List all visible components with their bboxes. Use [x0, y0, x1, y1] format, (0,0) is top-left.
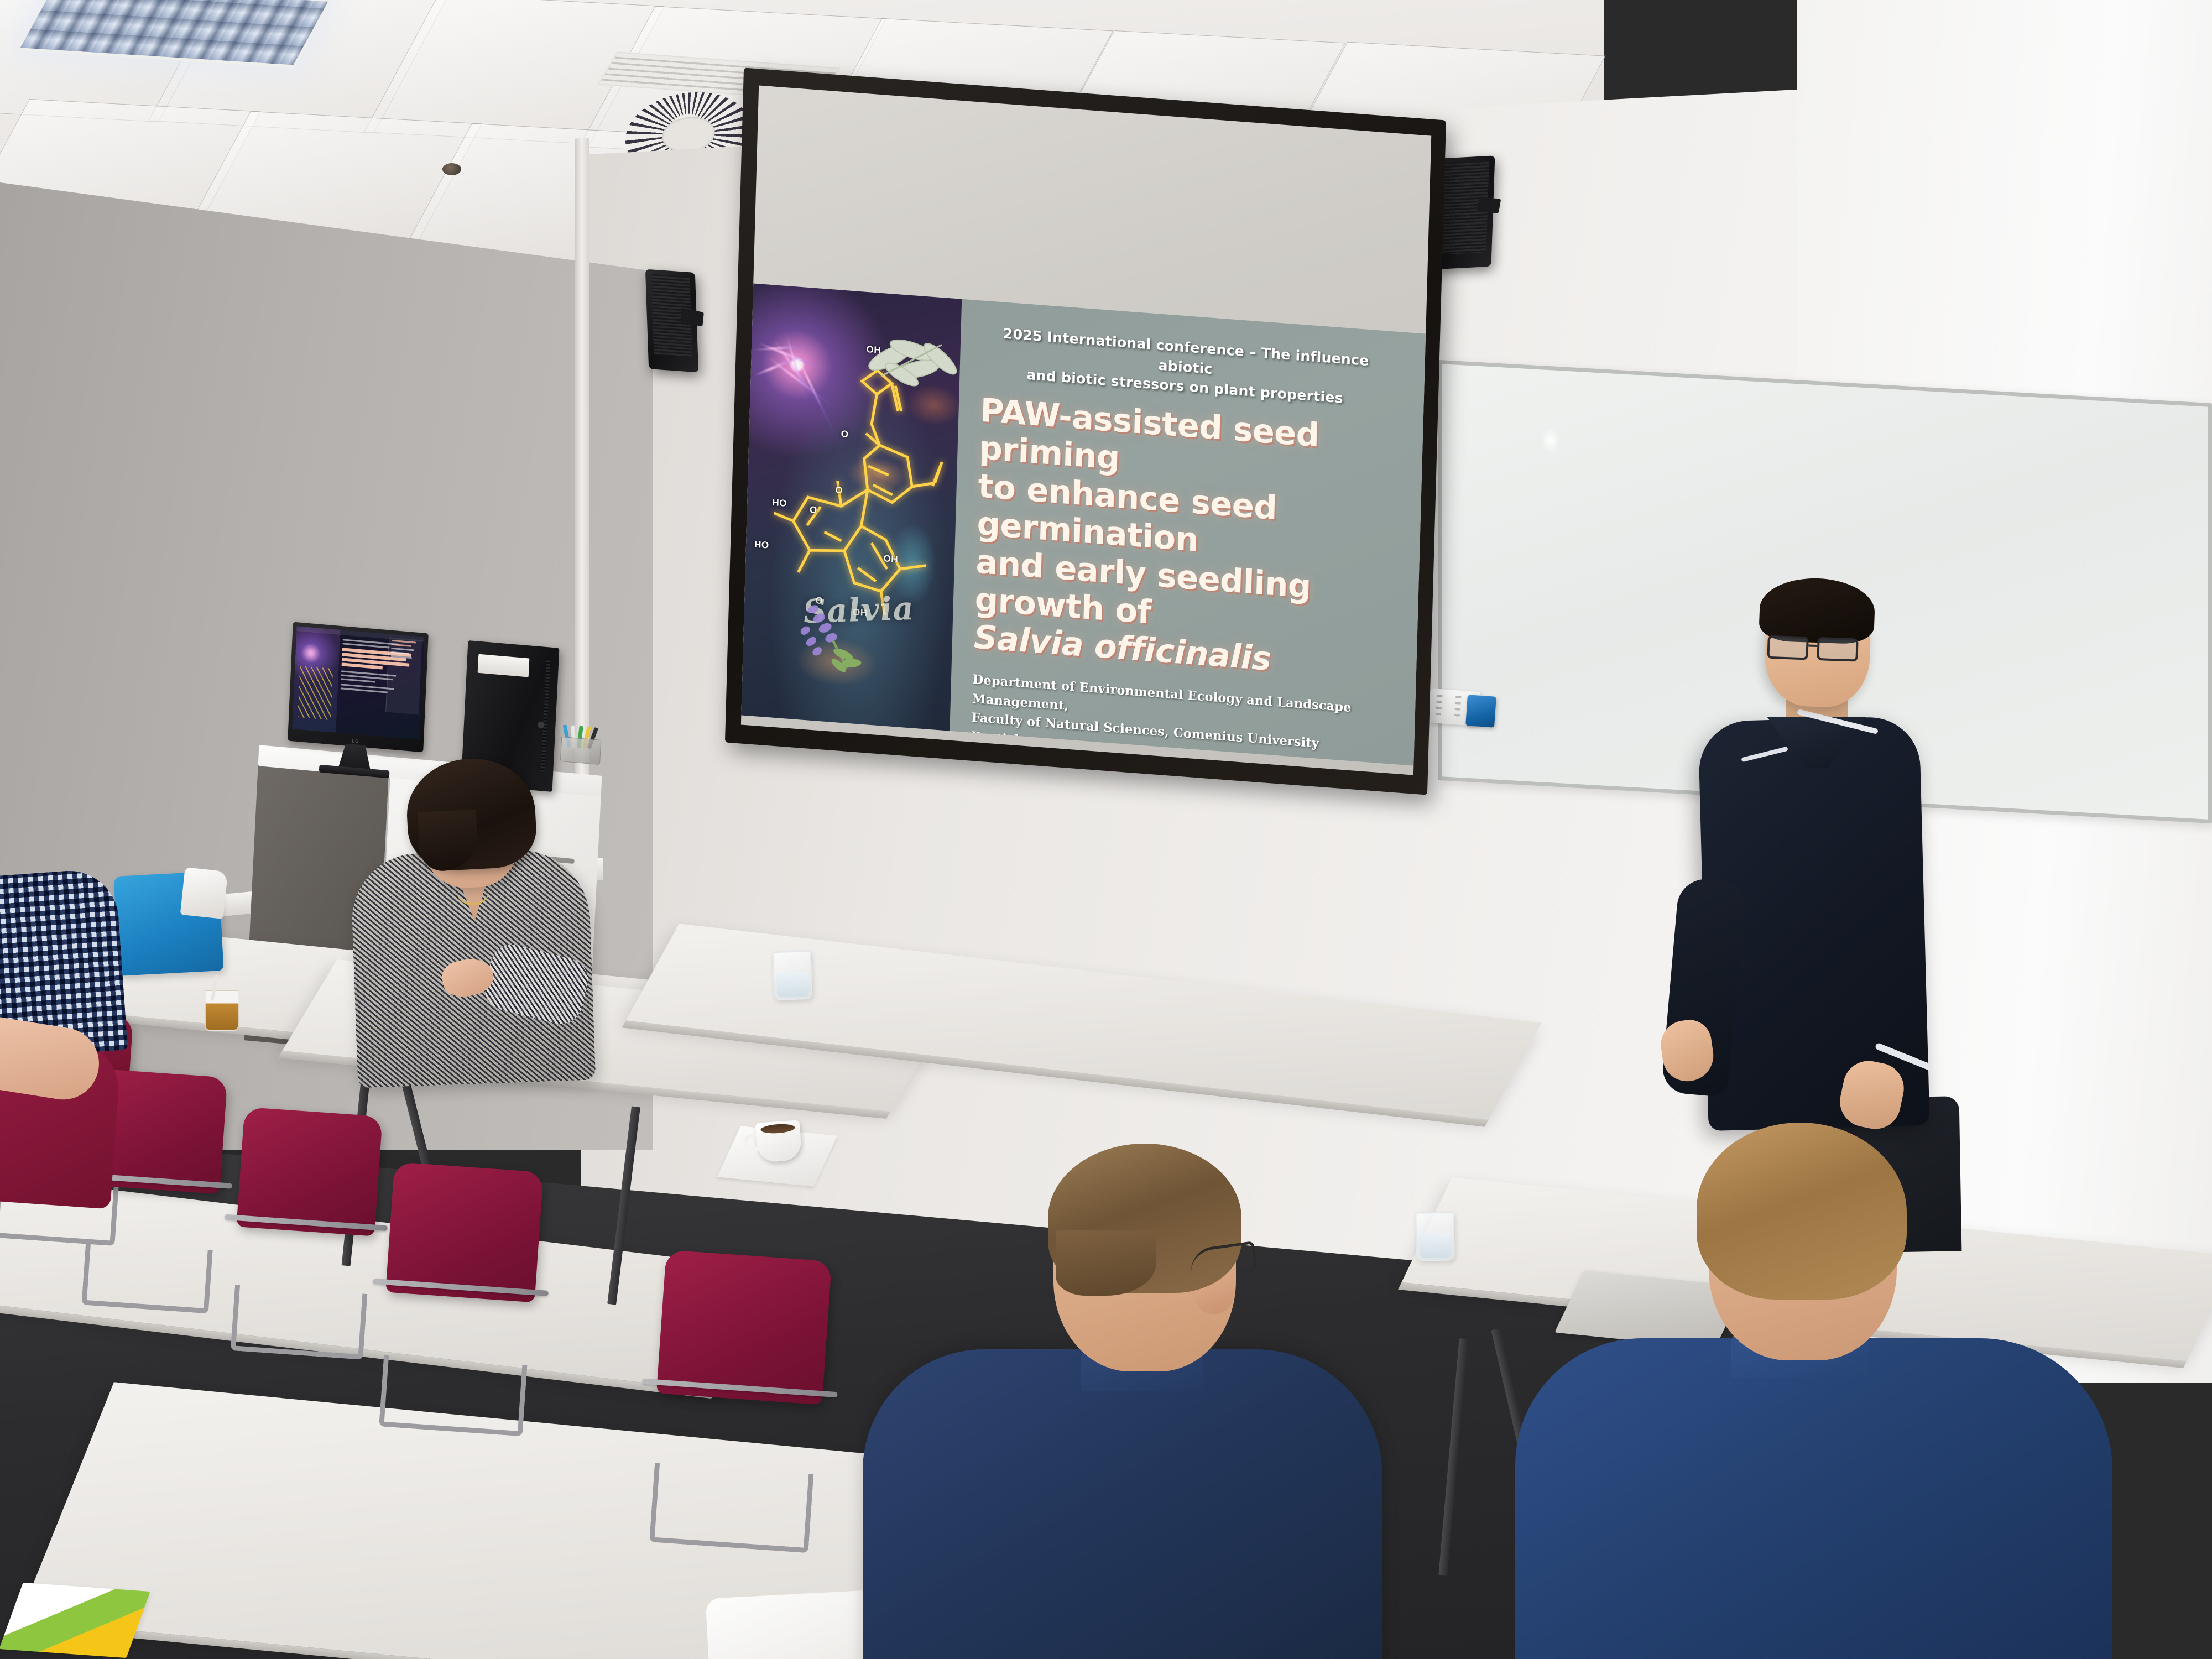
chair[interactable] — [380, 1162, 544, 1382]
presenter-monitor[interactable]: LG — [288, 622, 429, 753]
molecule-label-ho-2: HO — [754, 539, 769, 551]
pc-asset-label — [477, 654, 529, 677]
molecule-label-o-3: O — [810, 504, 817, 515]
screen-frame: OH O O HO HO O OH O OH — [725, 67, 1446, 795]
attendee-center-shirt — [863, 1349, 1383, 1659]
attendee-right-shirt — [1515, 1338, 2112, 1659]
wall-speaker-left — [645, 269, 698, 373]
white-bag[interactable] — [180, 867, 228, 919]
water-glass[interactable] — [772, 951, 812, 1000]
molecule-label-o-1: O — [841, 429, 849, 440]
molecule-label-ho-1: HO — [772, 497, 787, 509]
affiliation-block-1: Department of Environmental Ecology and … — [971, 670, 1389, 765]
green-leaflet[interactable] — [0, 1583, 150, 1658]
molecule-label-oh-2: OH — [883, 553, 898, 565]
ceiling-sensor-icon — [442, 163, 461, 175]
pen-holder-body — [560, 737, 601, 765]
presenter-eyeglasses — [1767, 635, 1867, 664]
salvia-flower-icon — [787, 563, 875, 716]
whiteboard-glare — [1541, 427, 1560, 454]
seminar-room-scene: OH O O HO HO O OH O OH — [0, 0, 2212, 1659]
monitor-slide-artwork — [292, 626, 340, 733]
monitor-molecule-icon — [298, 666, 333, 720]
chair[interactable] — [231, 1107, 383, 1310]
sage-leaf-icon — [859, 305, 962, 412]
whiteboard-eraser[interactable] — [1465, 695, 1496, 727]
slide-text-column: 1/13 2025 International conference – The… — [950, 299, 1426, 765]
slide-page-indicator: 1/13 — [1369, 284, 1412, 308]
chair[interactable] — [650, 1250, 832, 1493]
monitor-notes-panel — [385, 637, 422, 714]
author-rest: , Božena Šerá — [1038, 753, 1135, 765]
presentation-slide: OH O O HO HO O OH O OH — [741, 284, 1426, 766]
screen-surface: OH O O HO HO O OH O OH — [741, 85, 1431, 775]
pen-holder[interactable] — [560, 717, 602, 765]
slide-title: PAW-assisted seed priming to enhance see… — [973, 391, 1396, 687]
amber-drink-cup[interactable] — [205, 990, 239, 1031]
attendee-right-hair — [1697, 1123, 1907, 1300]
gold-necklace — [456, 888, 491, 906]
speaker-bracket-icon — [1477, 197, 1501, 213]
monitor-screen[interactable] — [292, 626, 424, 740]
molecule-label-o-2: O — [835, 484, 843, 496]
pc-vent-icon — [541, 659, 550, 771]
slide-artwork: OH O O HO HO O OH O OH — [741, 284, 962, 731]
projection-screen[interactable]: OH O O HO HO O OH O OH — [725, 67, 1446, 795]
water-glass[interactable] — [1415, 1212, 1455, 1261]
